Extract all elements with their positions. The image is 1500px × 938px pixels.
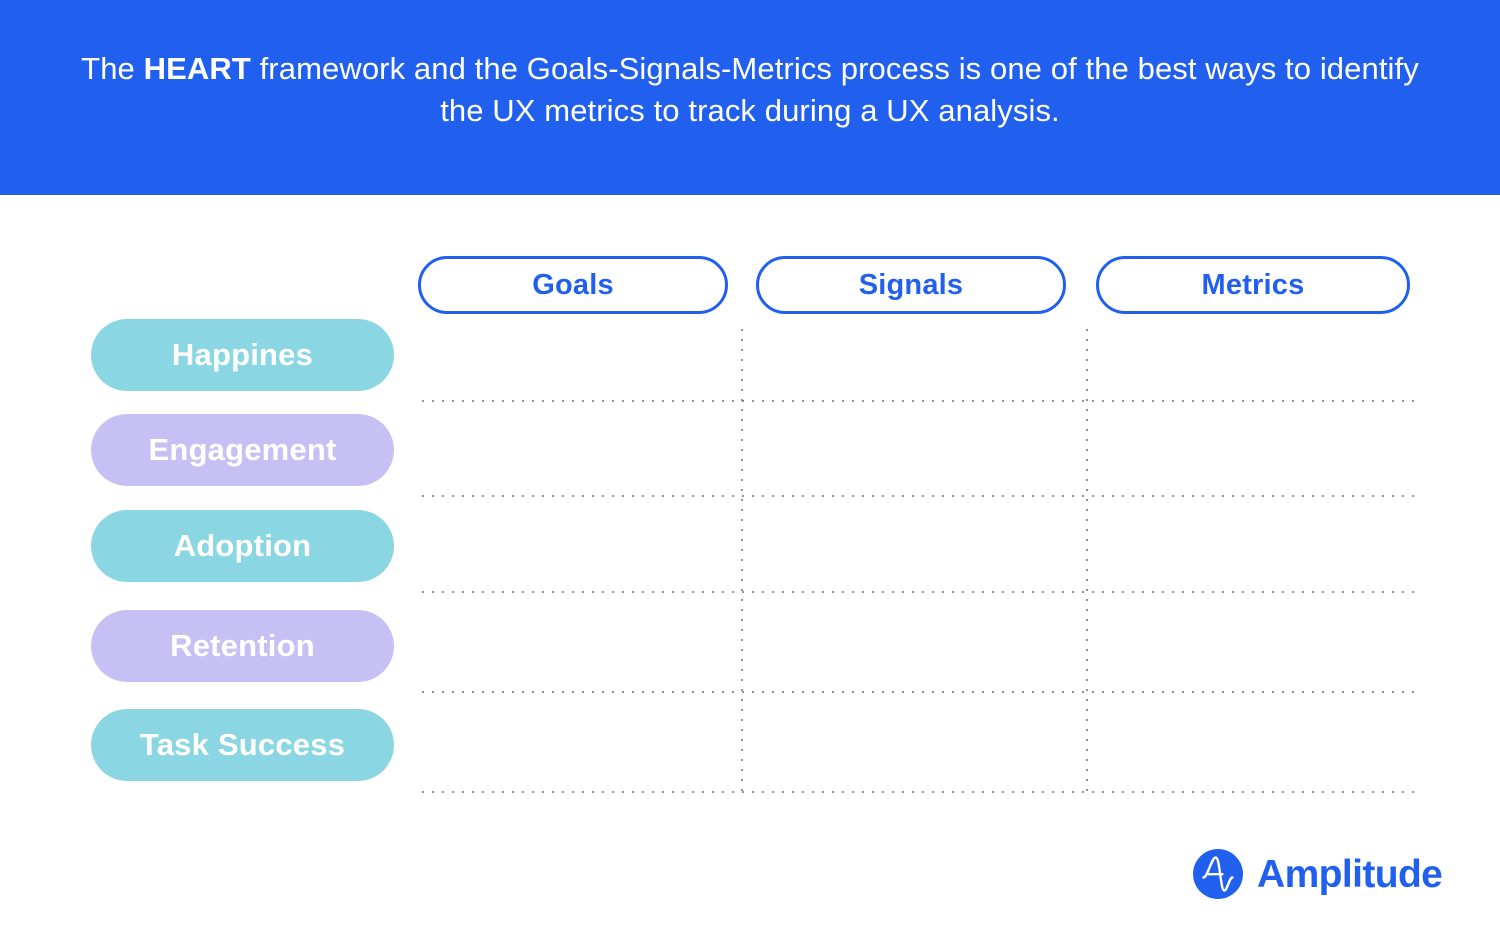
cell-engagement-signals[interactable] [746,405,1081,490]
column-header-signals-label: Signals [859,269,964,302]
row-label-happiness[interactable]: Happines [91,319,394,391]
row-label-adoption-text: Adoption [174,528,312,564]
cell-engagement-goals[interactable] [418,405,736,490]
grid-line-horizontal [418,691,1420,693]
row-label-adoption[interactable]: Adoption [91,510,394,582]
brand-name: Amplitude [1257,855,1442,894]
cell-happiness-metrics[interactable] [1091,325,1420,395]
grid-line-vertical [1086,325,1088,795]
column-header-signals[interactable]: Signals [756,256,1066,314]
grid-line-horizontal [418,791,1420,793]
grid-line-horizontal [418,495,1420,497]
cell-happiness-signals[interactable] [746,325,1081,395]
cell-task-success-metrics[interactable] [1091,696,1420,786]
grid-line-vertical [741,325,743,795]
row-label-task-success[interactable]: Task Success [91,709,394,781]
heart-matrix: Goals Signals Metrics Happines Engagemen… [0,195,1500,938]
grid-line-horizontal [418,400,1420,402]
amplitude-logo-icon [1193,849,1243,899]
cell-retention-metrics[interactable] [1091,596,1420,686]
cell-happiness-goals[interactable] [418,325,736,395]
row-label-retention[interactable]: Retention [91,610,394,682]
row-label-retention-text: Retention [170,628,315,664]
cell-adoption-goals[interactable] [418,500,736,586]
grid-line-horizontal [418,591,1420,593]
title-emphasis: HEART [144,51,251,86]
column-header-goals[interactable]: Goals [418,256,728,314]
cell-task-success-signals[interactable] [746,696,1081,786]
header-banner: The HEART framework and the Goals-Signal… [0,0,1500,195]
column-header-row: Goals Signals Metrics [418,256,1410,314]
column-header-goals-label: Goals [532,269,614,302]
cell-retention-goals[interactable] [418,596,736,686]
page-title: The HEART framework and the Goals-Signal… [70,48,1430,132]
row-label-task-success-text: Task Success [140,727,345,763]
column-header-metrics[interactable]: Metrics [1096,256,1410,314]
row-label-engagement-text: Engagement [148,432,336,468]
cell-engagement-metrics[interactable] [1091,405,1420,490]
cell-adoption-signals[interactable] [746,500,1081,586]
row-label-engagement[interactable]: Engagement [91,414,394,486]
infographic-canvas: The HEART framework and the Goals-Signal… [0,0,1500,938]
brand-lockup: Amplitude [1193,849,1442,899]
cell-adoption-metrics[interactable] [1091,500,1420,586]
cell-task-success-goals[interactable] [418,696,736,786]
title-suffix: framework and the Goals-Signals-Metrics … [251,51,1419,128]
title-prefix: The [81,51,143,86]
cell-retention-signals[interactable] [746,596,1081,686]
row-label-happiness-text: Happines [172,337,313,373]
column-header-metrics-label: Metrics [1202,269,1305,302]
